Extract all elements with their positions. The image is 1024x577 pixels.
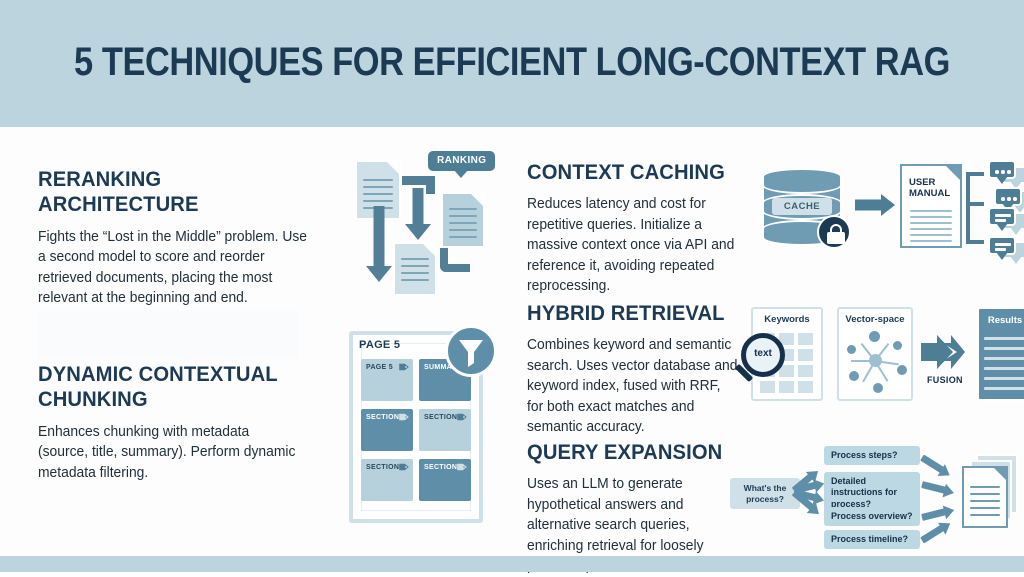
expanded-query-1: Process steps? [824,446,920,465]
ranking-badge: RANKING [428,151,495,171]
document-icon-user-manual: USER MANUAL [900,164,962,248]
heading-line-2: CHUNKING [38,387,148,411]
fusion-arrow [921,335,973,374]
bubble-tail [454,170,468,178]
doc-title-line1: USER [909,177,935,188]
decorative-panel [38,311,298,357]
chunk-tile: SECTION [361,409,413,451]
chunk-label: SECTION [366,464,399,471]
document-icon-front [962,466,1008,528]
graph-node [873,383,883,393]
tag-icon [457,463,467,471]
connector-elbow-top-h [402,176,426,185]
document-icon-reordered [393,242,437,296]
chat-bubble-icon-1 [988,160,1016,179]
page-title: 5 TECHNIQUES FOR EFFICIENT LONG-CONTEXT … [72,40,953,85]
illustration-hybrid-retrieval: Keywords text Vector-space [745,305,1020,405]
chunk-label: SECTION [424,414,457,421]
heading-line-1: DYNAMIC CONTEXTUAL [38,362,278,386]
section-heading-caching: CONTEXT CACHING [527,160,745,185]
filter-funnel-icon [445,325,497,377]
chunk-tile: PAGE 5 [361,359,413,401]
document-stack-icon [962,454,1020,530]
graph-node-center [869,354,882,367]
doc-title-line2: MANUAL [909,188,950,199]
magnifier-text: text [746,348,780,359]
illustration-chunking: PAGE 5 PAGE 5 SUMMARY SECTION SECTION SE… [345,325,505,530]
section-hybrid-retrieval: HYBRID RETRIEVAL Combines keyword and se… [527,301,745,438]
chunk-tile: SECTION [419,459,471,501]
section-dynamic-contextual-chunking: DYNAMIC CONTEXTUAL CHUNKING Enhances chu… [38,362,308,483]
arrow-collect-1 [920,455,944,474]
graph-node [869,331,880,342]
results-title: Results [979,315,1024,326]
cache-label: CACHE [772,198,832,215]
connector-branch [966,172,984,244]
magnifier-icon: text [741,333,785,377]
arrow-collect-2 [921,481,946,494]
keywords-title: Keywords [753,314,821,325]
chat-bubble-icon-3 [988,207,1016,226]
section-body-chunking: Enhances chunking with metadata (source,… [38,422,300,483]
page-card-title: PAGE 5 [359,339,400,351]
section-body-caching: Reduces latency and cost for repetitive … [527,194,752,296]
tag-icon [399,363,409,371]
chunk-label: SECTION [366,414,399,421]
source-query: What's the process? [730,478,800,509]
chunk-tile: SECTION [419,409,471,451]
chunk-tile: SECTION [361,459,413,501]
graph-node [849,371,859,381]
section-heading-reranking: RERANKING ARCHITECTURE [38,167,303,218]
illustration-reranking: RANKING [345,148,510,288]
document-icon-ranked [441,192,485,248]
graph-node [893,341,902,350]
page-fold [387,162,399,174]
page-fold [994,468,1006,480]
page-fold [471,194,483,206]
section-body-reranking: Fights the “Lost in the Middle” problem.… [38,227,312,309]
header-band: 5 TECHNIQUES FOR EFFICIENT LONG-CONTEXT … [0,0,1024,127]
tag-icon [399,463,409,471]
illustration-query-expansion: What's the process? Process steps? Detai… [730,440,1020,550]
footer-band [0,556,1024,572]
arrow-down-middle [405,188,431,240]
results-panel: Results [977,307,1024,401]
vector-space-panel: Vector-space [837,307,913,401]
chat-bubble-icon-2 [994,187,1022,206]
expanded-query-3: Process overview? [824,507,920,526]
tag-icon [457,413,467,421]
connector-elbow-bottom [440,248,470,272]
section-heading-query: QUERY EXPANSION [527,440,729,465]
expanded-query-4: Process timeline? [824,530,920,549]
illustration-context-caching: CACHE USER MANUAL [760,160,1020,275]
infographic-page: 5 TECHNIQUES FOR EFFICIENT LONG-CONTEXT … [0,0,1024,572]
graph-node [897,365,907,375]
section-context-caching: CONTEXT CACHING Reduces latency and cost… [527,160,759,297]
lock-icon [817,215,851,249]
ranking-label: RANKING [437,155,486,166]
page-fold [423,244,435,256]
chunk-label: SECTION [424,464,457,471]
section-body-hybrid: Combines keyword and semantic search. Us… [527,335,738,437]
arrow-down-long [366,206,392,282]
arrow-right-cache-to-doc [855,194,895,216]
tag-icon [399,413,409,421]
vector-space-title: Vector-space [839,314,911,325]
section-heading-chunking: DYNAMIC CONTEXTUAL CHUNKING [38,362,292,413]
section-reranking: RERANKING ARCHITECTURE Fights the “Lost … [38,167,320,308]
chunk-label: PAGE 5 [366,364,393,371]
chat-bubble-icon-4 [988,236,1016,255]
connector-branch-mid [966,202,984,206]
arrow-collect-4 [920,525,944,544]
fusion-label: FUSION [927,375,963,385]
section-heading-hybrid: HYBRID RETRIEVAL [527,301,732,326]
graph-node [847,345,856,354]
